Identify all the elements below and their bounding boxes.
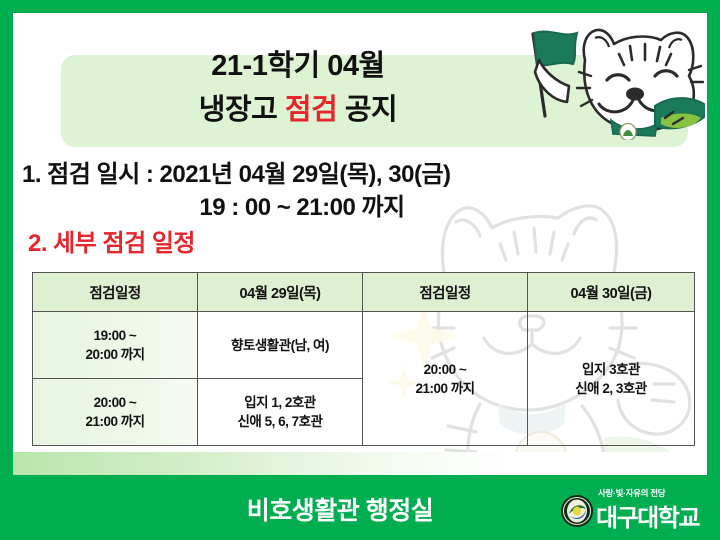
table-header-cell-3: 점검일정 [363, 273, 528, 312]
footer-office-name: 비호생활관 행정실 [150, 491, 530, 527]
cell-line-2: 21:00 까지 [363, 379, 527, 398]
cell-line-2: 신애 2, 3호관 [528, 379, 694, 398]
table-header-row: 점검일정 04월 29일(목) 점검일정 04월 30일(금) [33, 273, 695, 312]
cell-place-ipji12-sinae567: 입지 1, 2호관 신애 5, 6, 7호관 [198, 379, 363, 446]
university-name: 대구대학교 [596, 498, 699, 533]
cell-line-1: 입지 1, 2호관 [198, 393, 362, 412]
notice-item-1: 1. 점검 일시 : 2021년 04월 29일(목), 30(금) [22, 158, 682, 191]
cell-place-hyangto: 향토생활관(남, 여) [198, 312, 363, 379]
daegu-university-emblem-icon [560, 494, 594, 528]
notice-item-2: 2. 세부 점검 일정 [28, 227, 195, 260]
schedule-table: 점검일정 04월 29일(목) 점검일정 04월 30일(금) 19:00 ~ … [32, 272, 695, 446]
cell-line-2: 20:00 까지 [33, 345, 197, 364]
table-row: 19:00 ~ 20:00 까지 향토생활관(남, 여) 20:00 ~ 21:… [33, 312, 695, 379]
cell-line-2: 21:00 까지 [33, 412, 197, 431]
title-line-1: 21-1학기 04월 [48, 44, 548, 88]
cell-line-1: 19:00 ~ [33, 326, 197, 345]
table-header-cell-2: 04월 29일(목) [198, 273, 363, 312]
cell-time-2000-right: 20:00 ~ 21:00 까지 [363, 312, 528, 446]
table-header-cell-1: 점검일정 [33, 273, 198, 312]
university-logo: 사랑·빛·자유의 전당 대구대학교 [560, 485, 710, 531]
page-title: 21-1학기 04월 냉장고 점검 공지 [48, 44, 548, 132]
title-highlight: 점검 [285, 94, 337, 126]
footer-gradient-strip [13, 452, 707, 475]
poster-root: 21-1학기 04월 냉장고 점검 공지 [0, 0, 720, 540]
cell-place-ipji3-sinae23: 입지 3호관 신애 2, 3호관 [528, 312, 695, 446]
title-line-2-pre: 냉장고 [199, 94, 285, 126]
cell-time-1900: 19:00 ~ 20:00 까지 [33, 312, 198, 379]
cell-line-1: 20:00 ~ [33, 393, 197, 412]
table-header-cell-4: 04월 30일(금) [528, 273, 695, 312]
title-line-2: 냉장고 점검 공지 [48, 88, 548, 132]
tiger-mascot-with-flag-icon [515, 20, 705, 140]
cell-time-2000-left: 20:00 ~ 21:00 까지 [33, 379, 198, 446]
cell-line-1: 20:00 ~ [363, 360, 527, 379]
title-line-2-post: 공지 [337, 94, 397, 126]
cell-line-2: 신애 5, 6, 7호관 [198, 412, 362, 431]
notice-item-1-time: 19 : 00 ~ 21:00 까지 [22, 191, 582, 224]
cell-line-1: 입지 3호관 [528, 360, 694, 379]
